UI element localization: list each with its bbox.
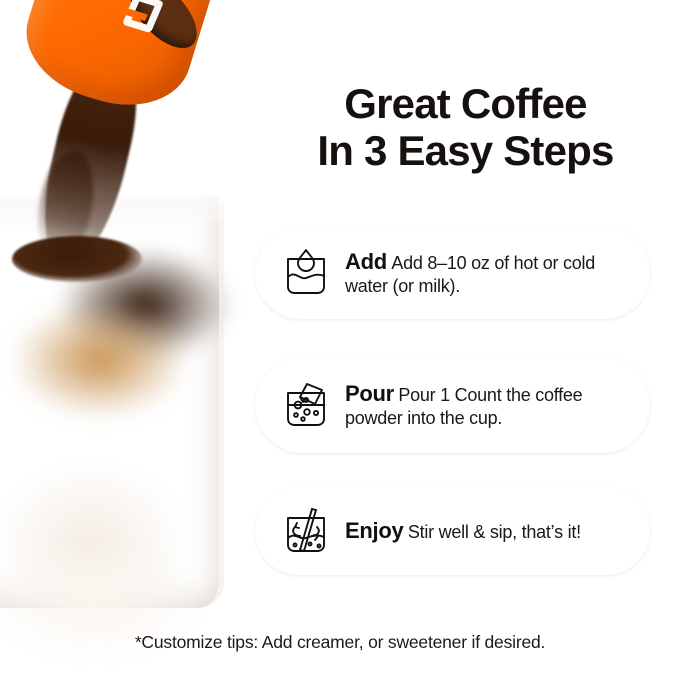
step-text-pour: Pour Pour 1 Count the coffee powder into… bbox=[345, 381, 630, 429]
cup-with-stir-stick-icon bbox=[281, 505, 331, 557]
step-card-pour[interactable]: Pour Pour 1 Count the coffee powder into… bbox=[255, 357, 650, 453]
step-card-add[interactable]: Add Add 8–10 oz of hot or cold water (or… bbox=[255, 227, 650, 319]
page-title: Great Coffee In 3 Easy Steps bbox=[252, 80, 679, 174]
step-card-enjoy[interactable]: Enjoy Stir well & sip, that’s it! bbox=[255, 487, 650, 575]
step-description: Stir well & sip, that’s it! bbox=[408, 522, 581, 542]
cup-with-sachet-pour-icon bbox=[281, 379, 331, 431]
headline-line-2: In 3 Easy Steps bbox=[252, 127, 679, 174]
infographic-canvas: Great Coffee In 3 Easy Steps Add Add 8–1… bbox=[0, 0, 679, 679]
cup-with-water-drop-icon bbox=[281, 247, 331, 299]
product-photo bbox=[0, 0, 252, 679]
step-text-enjoy: Enjoy Stir well & sip, that’s it! bbox=[345, 518, 630, 543]
step-title: Add bbox=[345, 249, 387, 274]
step-text-add: Add Add 8–10 oz of hot or cold water (or… bbox=[345, 249, 630, 297]
step-title: Pour bbox=[345, 381, 394, 406]
orange-scoop bbox=[12, 0, 224, 123]
headline-line-1: Great Coffee bbox=[344, 80, 586, 127]
step-title: Enjoy bbox=[345, 518, 403, 543]
customize-tips-note: *Customize tips: Add creamer, or sweeten… bbox=[60, 632, 620, 653]
